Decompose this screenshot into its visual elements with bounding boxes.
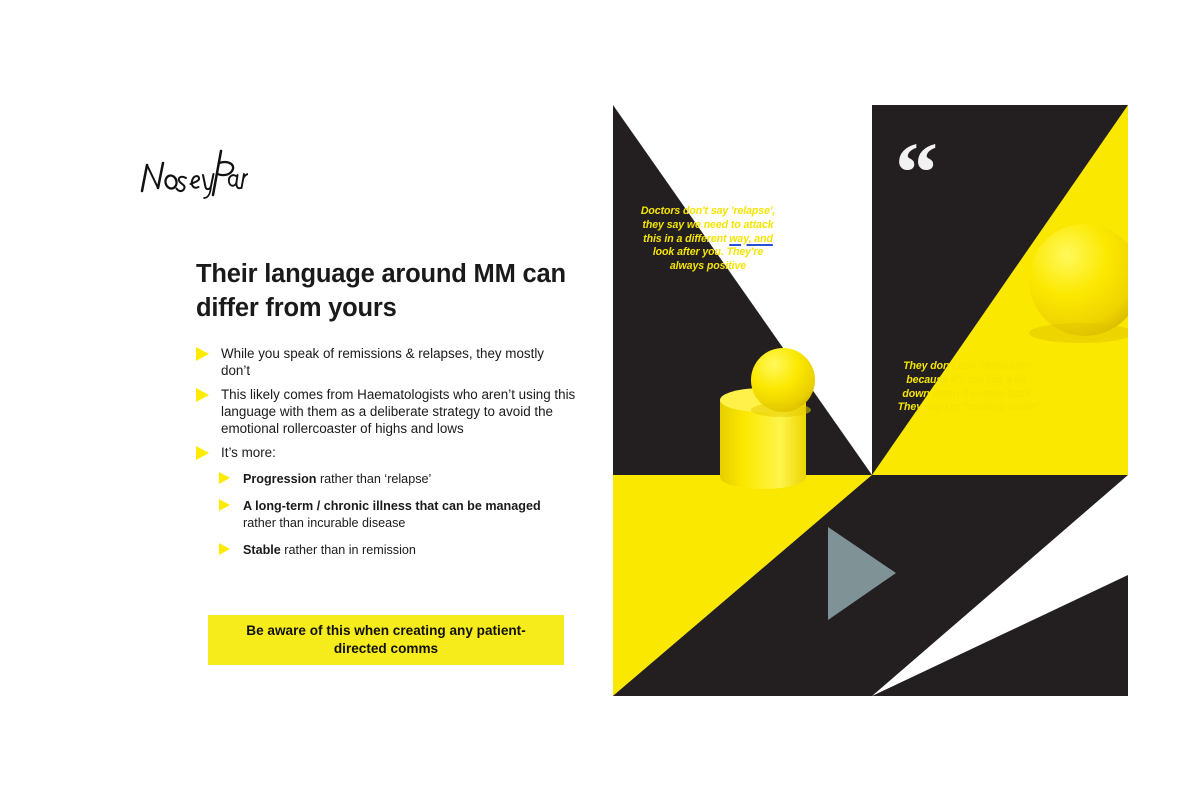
graphic-panel: “ Doctors don't say 'relapse', they say … xyxy=(613,105,1128,696)
quote-left-text: Doctors don't say 'relapse', they say we… xyxy=(638,205,778,274)
quote-right-text: They don't use 'remission' because it's … xyxy=(894,360,1042,415)
sub-list-item-bold: A long-term / chronic illness that can b… xyxy=(243,499,541,513)
callout-text: Be aware of this when creating any patie… xyxy=(222,622,550,658)
sub-list-item: Stable rather than in remission xyxy=(219,542,576,558)
sub-list-item: A long-term / chronic illness that can b… xyxy=(219,498,576,531)
arrow-bullet-icon xyxy=(196,446,209,460)
sub-bullet-list: Progression rather than ‘relapse’ A long… xyxy=(219,471,576,558)
graphic-shapes xyxy=(613,105,1128,696)
list-item: It’s more: xyxy=(196,444,576,461)
arrow-bullet-icon xyxy=(219,472,230,484)
arrow-bullet-icon xyxy=(219,543,230,555)
quote-left-part2: look after you. They're always positive xyxy=(653,246,763,272)
nosey-parker-logo xyxy=(138,142,248,204)
list-item: This likely comes from Haematologists wh… xyxy=(196,386,576,437)
sub-list-item: Progression rather than ‘relapse’ xyxy=(219,471,576,487)
sub-list-item-text: rather than incurable disease xyxy=(243,516,405,530)
slide-canvas: Their language around MM can differ from… xyxy=(0,0,1200,800)
page-title: Their language around MM can differ from… xyxy=(196,258,568,326)
bullet-list: While you speak of remissions & relapses… xyxy=(196,345,576,570)
arrow-bullet-icon xyxy=(219,499,230,511)
quote-left-underlined: way, and xyxy=(729,233,773,245)
list-item-text: While you speak of remissions & relapses… xyxy=(221,346,544,378)
sub-list-item-bold: Progression xyxy=(243,472,316,486)
arrow-bullet-icon xyxy=(196,347,209,361)
list-item-text: It’s more: xyxy=(221,445,276,460)
callout-banner: Be aware of this when creating any patie… xyxy=(208,615,564,665)
sub-list-item-text: rather than in remission xyxy=(281,543,416,557)
sub-list-item-bold: Stable xyxy=(243,543,281,557)
sub-list-item-text: rather than ‘relapse’ xyxy=(316,472,431,486)
quote-mark-icon: “ xyxy=(895,129,938,215)
list-item-text: This likely comes from Haematologists wh… xyxy=(221,387,575,436)
arrow-bullet-icon xyxy=(196,388,209,402)
list-item: While you speak of remissions & relapses… xyxy=(196,345,576,379)
